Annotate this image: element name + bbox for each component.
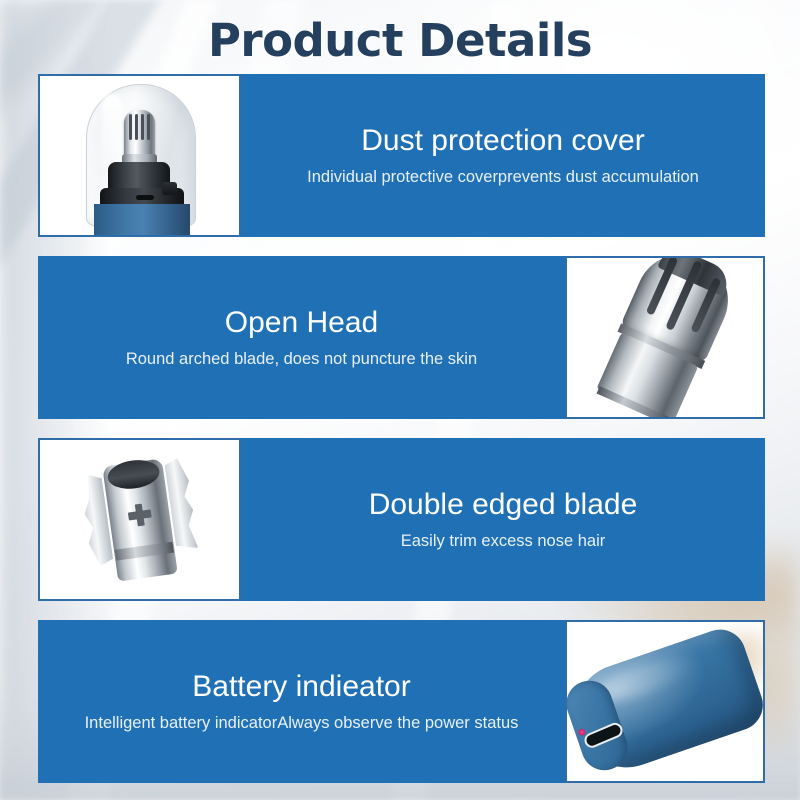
feature-text-block-double-edged-blade: Double edged blade Easily trim excess no… [241, 438, 765, 601]
feature-title: Dust protection cover [361, 124, 644, 157]
charging-port-slot [136, 195, 154, 200]
blue-case-usbc-illustration [567, 622, 763, 781]
feature-title: Double edged blade [369, 488, 638, 521]
feature-title: Open Head [225, 306, 378, 339]
feature-title: Battery indieator [192, 670, 410, 703]
product-details-infographic: Product Details [0, 0, 800, 800]
product-photo-dust-protection-cover [38, 74, 241, 237]
feature-text-block-battery-indicator: Battery indieator Intelligent battery in… [38, 620, 565, 783]
trimmer-blue-base [94, 204, 190, 237]
dome-gloss [102, 94, 122, 172]
steel-open-head-illustration [567, 258, 763, 417]
product-photo-double-edged-blade [38, 438, 241, 601]
double-edged-blade-illustration [40, 440, 239, 599]
page-title: Product Details [0, 14, 800, 67]
product-photo-battery-indicator [565, 620, 765, 783]
feature-subtitle: Intelligent battery indicatorAlways obse… [85, 714, 519, 734]
feature-subtitle: Round arched blade, does not puncture th… [126, 350, 477, 370]
feature-panel-dust-protection-cover: Dust protection cover Individual protect… [38, 74, 765, 237]
feature-subtitle: Easily trim excess nose hair [401, 532, 606, 552]
feature-panel-battery-indicator: Battery indieator Intelligent battery in… [38, 620, 765, 783]
feature-subtitle: Individual protective coverprevents dust… [307, 168, 699, 188]
feature-text-block-dust-protection-cover: Dust protection cover Individual protect… [241, 74, 765, 237]
feature-panel-double-edged-blade: Double edged blade Easily trim excess no… [38, 438, 765, 601]
product-photo-open-head [565, 256, 765, 419]
feature-text-block-open-head: Open Head Round arched blade, does not p… [38, 256, 565, 419]
feature-panel-open-head: Open Head Round arched blade, does not p… [38, 256, 765, 419]
trimmer-with-dome-cover-illustration [40, 76, 239, 235]
body-nub [162, 182, 177, 195]
